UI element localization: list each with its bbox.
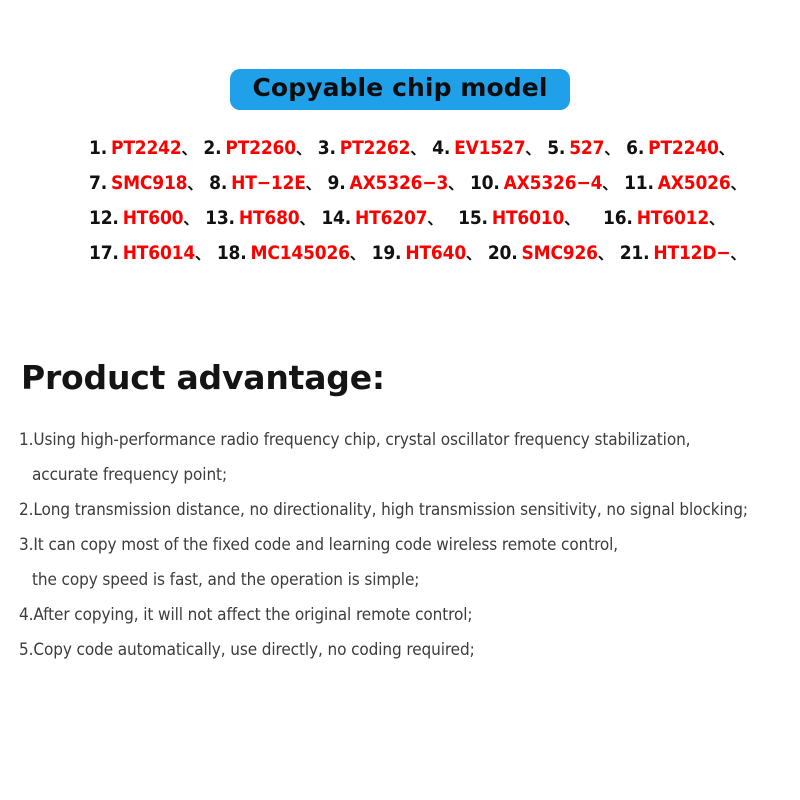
chip-model-item: 6.PT2240、 (626, 137, 735, 159)
chip-model-name: HT6207 (355, 207, 427, 229)
chip-model-item: 2.PT2260、 (203, 137, 312, 159)
chip-model-name: EV1527 (454, 137, 525, 159)
chip-model-index: 6. (626, 137, 644, 159)
chip-model-item: 15.HT6010、 (458, 207, 581, 229)
chip-model-separator: 、 (598, 245, 613, 263)
chip-model-separator: 、 (604, 140, 619, 158)
chip-model-name: SMC918 (111, 172, 187, 194)
chip-model-index: 10. (470, 172, 500, 194)
chip-model-separator: 、 (602, 175, 617, 193)
chip-model-item: 9.AX5326−3、 (328, 172, 465, 194)
chip-model-index: 7. (89, 172, 107, 194)
chip-model-separator: 、 (410, 140, 425, 158)
product-advantage-heading: Product advantage: (21, 357, 385, 399)
chip-model-item: 21.HT12D−、 (620, 242, 748, 264)
chip-model-separator: 、 (564, 210, 579, 228)
chip-model-name: HT600 (123, 207, 184, 229)
chip-model-item: 10.AX5326−4、 (470, 172, 619, 194)
chip-model-name: AX5026 (658, 172, 731, 194)
chip-model-row: 1.PT2242、2.PT2260、3.PT2262、4.EV1527、5.52… (89, 131, 800, 166)
chip-model-index: 13. (205, 207, 235, 229)
chip-model-separator: 、 (709, 210, 724, 228)
chip-model-index: 21. (620, 242, 650, 264)
chip-model-index: 16. (603, 207, 633, 229)
chip-model-item: 17.HT6014、 (89, 242, 212, 264)
chip-model-index: 12. (89, 207, 119, 229)
advantage-line: 1.Using high-performance radio frequency… (19, 423, 800, 458)
chip-model-separator: 、 (195, 245, 210, 263)
banner-title: Copyable chip model (252, 73, 547, 103)
chip-model-index: 2. (203, 137, 221, 159)
chip-model-index: 9. (328, 172, 346, 194)
chip-model-name: PT2262 (340, 137, 411, 159)
chip-model-name: PT2240 (648, 137, 719, 159)
chip-model-index: 17. (89, 242, 119, 264)
chip-model-separator: 、 (182, 140, 197, 158)
chip-model-item: 12.HT600、 (89, 207, 200, 229)
chip-model-row: 7.SMC918、8.HT−12E、9.AX5326−3、10.AX5326−4… (89, 166, 800, 201)
chip-model-name: 527 (569, 137, 604, 159)
chip-model-index: 20. (488, 242, 518, 264)
chip-model-item: 19.HT640、 (372, 242, 483, 264)
advantage-line-continuation: the copy speed is fast, and the operatio… (19, 563, 800, 598)
chip-model-name: PT2242 (111, 137, 182, 159)
chip-model-index: 8. (209, 172, 227, 194)
chip-model-separator: 、 (300, 210, 315, 228)
advantage-line: 2.Long transmission distance, no directi… (19, 493, 800, 528)
chip-model-name: HT−12E (231, 172, 306, 194)
chip-model-separator: 、 (730, 245, 745, 263)
chip-model-item: 5.527、 (547, 137, 621, 159)
chip-model-separator: 、 (350, 245, 365, 263)
chip-model-name: AX5326−3 (350, 172, 449, 194)
chip-model-separator: 、 (731, 175, 746, 193)
advantage-line: 4.After copying, it will not affect the … (19, 598, 800, 633)
chip-model-item: 16.HT6012、 (603, 207, 726, 229)
product-advantage-list: 1.Using high-performance radio frequency… (19, 423, 800, 668)
chip-model-row: 17.HT6014、18.MC145026、19.HT640、20.SMC926… (89, 236, 800, 271)
chip-model-separator: 、 (448, 175, 463, 193)
chip-model-index: 11. (624, 172, 654, 194)
chip-model-name: AX5326−4 (504, 172, 603, 194)
chip-model-separator: 、 (306, 175, 321, 193)
banner-row: Copyable chip model (0, 69, 800, 110)
chip-model-name: HT640 (405, 242, 466, 264)
chip-model-separator: 、 (466, 245, 481, 263)
chip-model-index: 4. (432, 137, 450, 159)
chip-model-separator: 、 (719, 140, 734, 158)
chip-model-item: 20.SMC926、 (488, 242, 615, 264)
chip-model-index: 5. (547, 137, 565, 159)
chip-model-separator: 、 (187, 175, 202, 193)
copyable-chip-model-banner: Copyable chip model (230, 69, 569, 110)
chip-model-list: 1.PT2242、2.PT2260、3.PT2262、4.EV1527、5.52… (89, 131, 800, 271)
chip-model-item: 7.SMC918、 (89, 172, 204, 194)
chip-model-item: 18.MC145026、 (217, 242, 367, 264)
chip-model-name: HT680 (239, 207, 300, 229)
advantage-line: 5.Copy code automatically, use directly,… (19, 633, 800, 668)
chip-model-item: 3.PT2262、 (318, 137, 427, 159)
chip-model-index: 3. (318, 137, 336, 159)
chip-model-item: 8.HT−12E、 (209, 172, 322, 194)
chip-model-name: HT6010 (492, 207, 564, 229)
chip-model-name: HT12D− (653, 242, 730, 264)
chip-model-index: 18. (217, 242, 247, 264)
chip-model-index: 1. (89, 137, 107, 159)
chip-model-row: 12.HT600、13.HT680、14.HT6207、15.HT6010、16… (89, 201, 800, 236)
chip-model-name: PT2260 (225, 137, 296, 159)
chip-model-index: 14. (321, 207, 351, 229)
chip-model-index: 19. (372, 242, 402, 264)
chip-model-name: MC145026 (251, 242, 350, 264)
chip-model-name: SMC926 (522, 242, 598, 264)
chip-model-separator: 、 (427, 210, 442, 228)
chip-model-item: 11.AX5026、 (624, 172, 747, 194)
chip-model-separator: 、 (525, 140, 540, 158)
chip-model-name: HT6014 (123, 242, 195, 264)
advantage-line-continuation: accurate frequency point; (19, 458, 800, 493)
chip-model-name: HT6012 (637, 207, 709, 229)
chip-model-item: 14.HT6207、 (321, 207, 444, 229)
chip-model-separator: 、 (183, 210, 198, 228)
chip-model-item: 13.HT680、 (205, 207, 316, 229)
advantage-line: 3.It can copy most of the fixed code and… (19, 528, 800, 563)
chip-model-item: 1.PT2242、 (89, 137, 198, 159)
chip-model-separator: 、 (296, 140, 311, 158)
chip-model-item: 4.EV1527、 (432, 137, 542, 159)
chip-model-index: 15. (458, 207, 488, 229)
